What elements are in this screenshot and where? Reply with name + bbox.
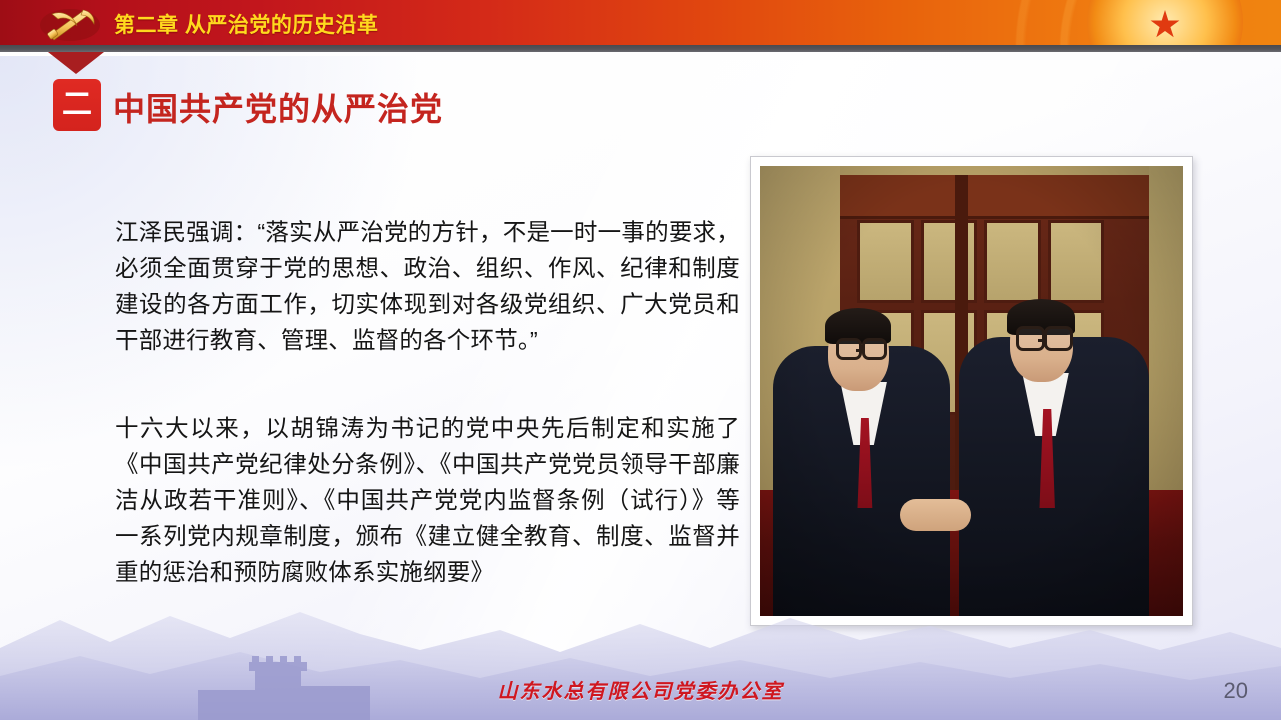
header-divider-strip (0, 45, 1281, 52)
paragraph-2: 十六大以来，以胡锦涛为书记的党中央先后制定和实施了《中国共产党纪律处分条例》、《… (115, 410, 740, 590)
organization-footer: 山东水总有限公司党委办公室 (0, 675, 1281, 704)
section-number-glyph: 二 (62, 90, 92, 120)
party-hammer-sickle-emblem (36, 4, 104, 42)
chapter-header-bar: 第二章 从严治党的历史沿革 (0, 0, 1281, 45)
slide-root: 第二章 从严治党的历史沿革 二 中国共产党的从严治党 江泽民强调：“落实从严治党… (0, 0, 1281, 720)
section-number-badge: 二 (53, 79, 101, 131)
down-triangle-icon (48, 52, 104, 74)
chapter-title: 第二章 从严治党的历史沿革 (114, 9, 378, 39)
content-text-column: 江泽民强调：“落实从严治党的方针，不是一时一事的要求，必须全面贯穿于党的思想、政… (115, 190, 740, 613)
leaders-handshake-photo (750, 156, 1193, 626)
page-number: 20 (1224, 678, 1248, 704)
paragraph-1: 江泽民强调：“落实从严治党的方针，不是一时一事的要求，必须全面贯穿于党的思想、政… (115, 214, 740, 358)
photo-image (760, 166, 1183, 616)
section-title: 中国共产党的从严治党 (113, 84, 443, 130)
